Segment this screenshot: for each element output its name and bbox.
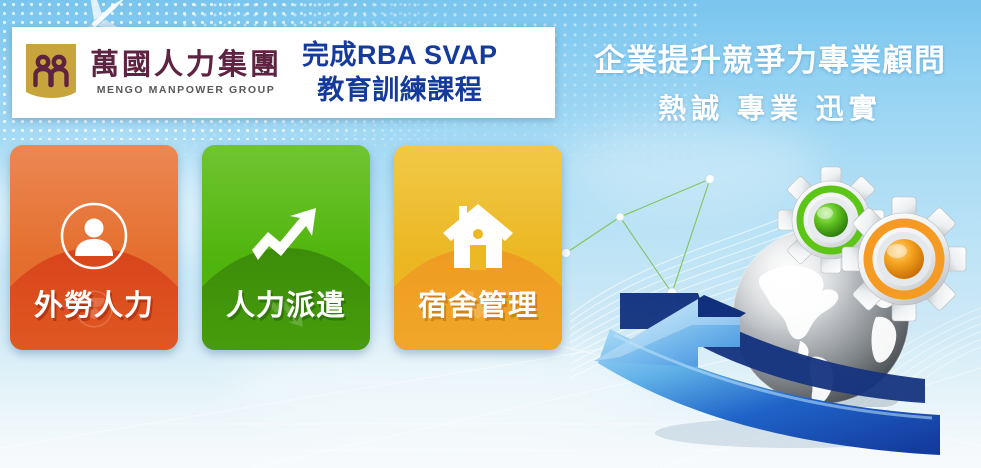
service-card-foreign-labor[interactable]: 外勞人力 [10, 145, 178, 350]
plaque-title-line2: 教育訓練課程 [302, 73, 498, 108]
green-gear-icon [776, 165, 886, 275]
logo-chinese-name: 萬國人力集團 [90, 49, 282, 79]
slogan-line2: 熱誠 專業 迅實 [565, 91, 975, 127]
cloud-decoration [560, 120, 820, 210]
world-globe-icon [730, 225, 912, 407]
card-icon-slot [394, 197, 562, 275]
swirl-lines-decoration [570, 165, 900, 395]
card-icon-slot [10, 197, 178, 275]
company-logo[interactable]: 萬國人力集團 MENGO MANPOWER GROUP [12, 42, 282, 104]
card-label: 人力派遣 [202, 282, 370, 324]
service-card-staffing[interactable]: 人力派遣 [202, 145, 370, 350]
plaque-title: 完成RBA SVAP 教育訓練課程 [302, 38, 498, 107]
company-slogan: 企業提升競爭力專業顧問 熱誠 專業 迅實 [565, 42, 975, 127]
slogan-line1: 企業提升競爭力專業顧問 [565, 42, 975, 81]
service-card-dormitory[interactable]: 宿舍管理 [394, 145, 562, 350]
two-people-shield-mark-icon [24, 42, 78, 104]
illustration-stage [560, 155, 981, 468]
orange-gear-icon [840, 195, 968, 323]
company-header-plaque: 萬國人力集團 MENGO MANPOWER GROUP 完成RBA SVAP 教… [12, 27, 555, 118]
blue-ribbon-arrow-icon [580, 255, 940, 455]
person-in-circle-icon [58, 200, 130, 272]
trending-up-arrow-icon [246, 204, 326, 268]
logo-english-name: MENGO MANPOWER GROUP [90, 84, 282, 96]
house-icon [441, 200, 515, 272]
card-label: 宿舍管理 [394, 282, 562, 324]
card-label: 外勞人力 [10, 282, 178, 324]
plaque-title-line1: 完成RBA SVAP [302, 38, 498, 73]
network-nodes-icon [560, 175, 860, 405]
mesh-lines-decoration [720, 155, 981, 445]
card-icon-slot [202, 197, 370, 275]
promotional-banner: 萬國人力集團 MENGO MANPOWER GROUP 完成RBA SVAP 教… [0, 0, 981, 468]
